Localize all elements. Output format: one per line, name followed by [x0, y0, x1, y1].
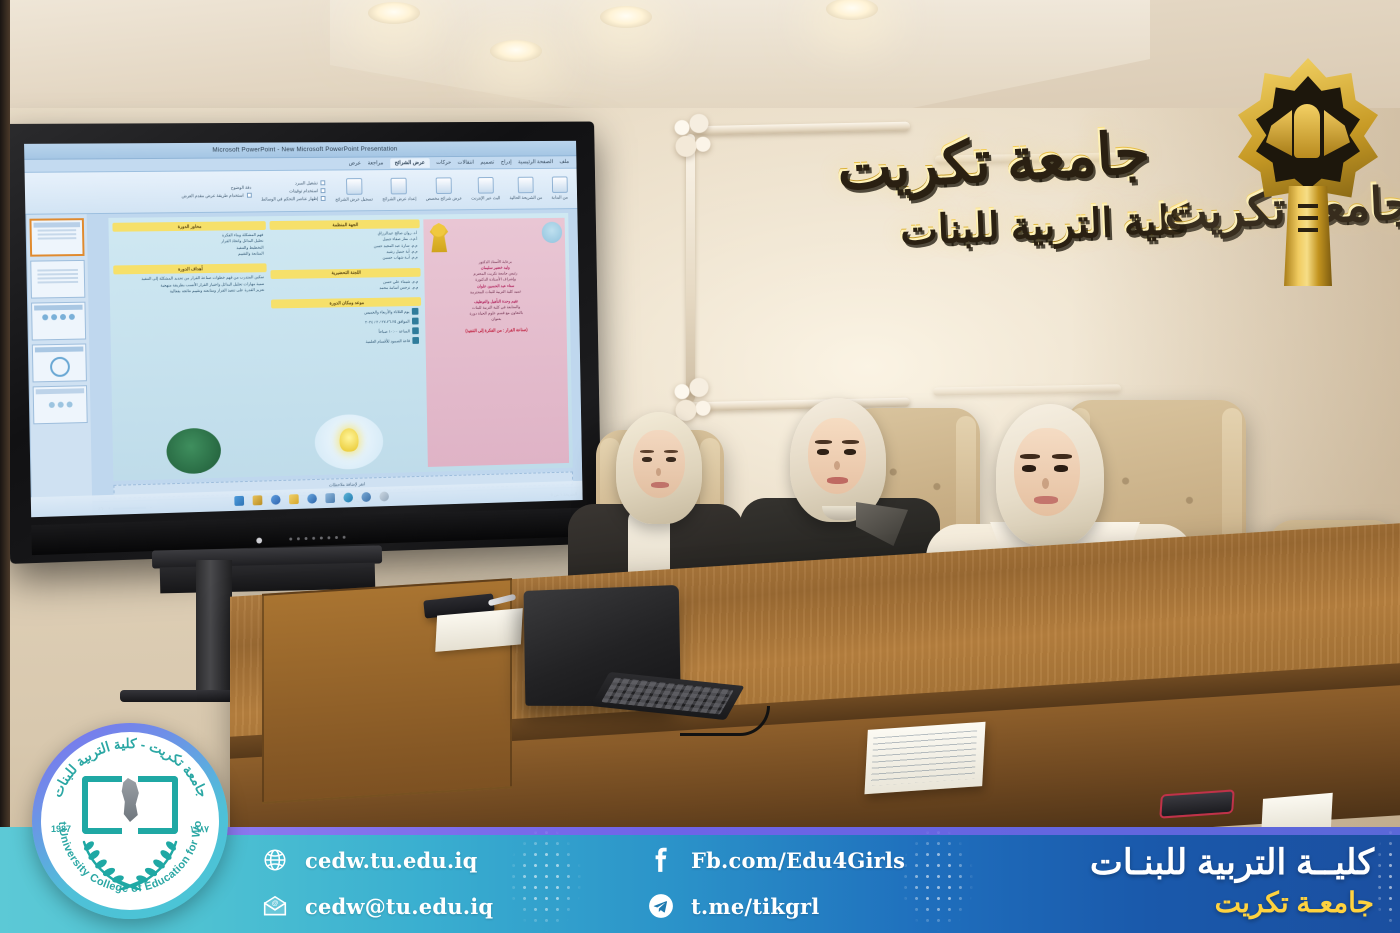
slide-lightbulb-graphic [315, 414, 384, 470]
powerpoint-icon[interactable] [307, 494, 317, 504]
date-row: الموافق ٢٥-٢٦-٢٧ / ٢ / ٢٠٢٤ [274, 318, 419, 327]
person-right-nose [1042, 478, 1049, 489]
slide-thumbnail[interactable] [32, 343, 87, 382]
footer-arabic-titles: كليــة التربية للبنـات جامعـة تكريت [1090, 841, 1374, 921]
checkbox-play-narrations[interactable]: تشغيل السرد [261, 180, 326, 186]
contact-telegram[interactable]: t.me/tikgrl [648, 893, 905, 919]
person-middle-brow [815, 440, 832, 444]
person-left-eye [642, 457, 652, 462]
dot-pattern-decor [508, 827, 582, 933]
slide-column-organizers: الجهة المنظمة أ.د. روان صالح عبدالرزاق أ… [270, 219, 425, 471]
person-middle-lips [827, 477, 848, 484]
ribbon-monitor-group[interactable]: دقة الوضوح استخدام طريقة عرض مقدم العرض [181, 184, 251, 198]
date-row: الساعة ١٠:٠٠ صباحاً [275, 328, 420, 338]
plaster-ornament [668, 112, 718, 164]
location-icon [413, 337, 420, 344]
paper-document[interactable] [864, 722, 985, 795]
globe-icon [262, 847, 288, 873]
ribbon[interactable]: من البداية من الشريحة الحالية البث عبر ا… [25, 169, 578, 215]
start-icon[interactable] [234, 496, 244, 506]
slide-thumbnail[interactable] [33, 385, 88, 424]
slide-canvas-pane[interactable]: برعاية الأستاذ الدكتور وليد خضير سليمان … [87, 209, 583, 515]
interactive-display[interactable]: Microsoft PowerPoint - New Microsoft Pow… [6, 124, 626, 564]
checkbox-show-media-controls[interactable]: إظهار عناصر التحكم في الوسائط [261, 196, 326, 202]
mail-icon[interactable] [361, 492, 371, 502]
edge-icon[interactable] [343, 493, 353, 503]
slide-list-organizers: أ.د. روان صالح عبدالرزاق أ.م.د. منار صفا… [270, 228, 421, 265]
ribbon-button-record[interactable]: تسجيل عرض الشرائح [335, 178, 373, 203]
label-resolution: دقة الوضوح [181, 184, 251, 191]
college-logo-badge: جامعة تكريت - كلية التربية للبنات Tikrit… [32, 723, 228, 919]
slide-photo-graphic [166, 428, 221, 475]
dot-pattern-decor [900, 827, 974, 933]
person-right-eye [1022, 465, 1036, 472]
slide-datetime-block: يوم الثلاثاء والأربعاء والخميس الموافق ٢… [271, 306, 422, 349]
tab-view[interactable]: عرض [349, 161, 361, 167]
display-stand-column [196, 560, 232, 698]
contact-website[interactable]: cedw.tu.edu.iq [262, 847, 493, 873]
tab-home[interactable]: الصفحة الرئيسية [518, 159, 553, 165]
person-left-lips [651, 482, 669, 488]
dot-pattern-decor [1374, 827, 1400, 933]
list-item: م.م. آيـة شهاب حسين [273, 255, 418, 263]
ribbon-button-custom-show[interactable]: عرض شرائح مخصص [425, 177, 462, 202]
tab-file[interactable]: ملف [559, 159, 569, 165]
person-right-eye [1054, 465, 1068, 472]
from-start-icon[interactable] [551, 176, 567, 192]
footer-college-name: كليــة التربية للبنـات [1090, 841, 1374, 885]
slide-avatar-circle [542, 222, 563, 243]
tab-animations[interactable]: حركات [436, 160, 451, 166]
footer-university-name: جامعـة تكريت [1090, 885, 1374, 921]
person-left-eye [666, 457, 676, 462]
display-screen[interactable]: Microsoft PowerPoint - New Microsoft Pow… [24, 141, 583, 517]
slide-list-committee: م.م. شيماء علي حسن م.م. نرجس أسامة محمد [271, 276, 421, 295]
slide-course-title: (صناعة القرار : من الفكرة إلى التنفيذ) [430, 327, 562, 336]
from-current-slide-icon[interactable] [518, 177, 534, 194]
envelope-icon: @ [262, 893, 288, 919]
checkbox-presenter-view[interactable]: استخدام طريقة عرض مقدم العرض [182, 192, 252, 199]
person-left-brow [640, 450, 654, 453]
contact-group-web: cedw.tu.edu.iq @ cedw@tu.edu.iq [262, 847, 493, 919]
list-item: م.م. نرجس أسامة محمد [274, 285, 419, 293]
frame-left-edge [0, 0, 10, 868]
website-url[interactable]: cedw.tu.edu.iq [305, 848, 477, 873]
person-middle-eye [817, 449, 829, 455]
ceiling-downlight [490, 40, 542, 62]
slide-thumbnail[interactable] [29, 218, 84, 257]
settings-icon[interactable] [379, 491, 389, 501]
folder-icon[interactable] [289, 494, 299, 504]
person-left-nose [656, 468, 661, 476]
ceiling-downlight [600, 6, 652, 28]
contact-email[interactable]: @ cedw@tu.edu.iq [262, 893, 493, 919]
tab-slideshow[interactable]: عرض الشرائح [390, 158, 430, 168]
date-row: يوم الثلاثاء والأربعاء والخميس [274, 308, 419, 317]
ribbon-button-broadcast[interactable]: البث عبر الإنترنت [471, 177, 501, 201]
list-item: تعزيز القدرة على تنفيذ القرار ومتابعته و… [117, 287, 265, 296]
ribbon-button-from-current[interactable]: من الشريحة الحالية [509, 177, 542, 201]
powerpoint-window[interactable]: Microsoft PowerPoint - New Microsoft Pow… [24, 141, 583, 517]
setup-slideshow-icon[interactable] [391, 178, 407, 195]
paper-sheet[interactable] [435, 608, 523, 652]
record-slideshow-icon[interactable] [346, 178, 362, 195]
list-item: المتابعة والتقييم [116, 251, 264, 259]
svg-text:@: @ [272, 900, 279, 907]
tab-transitions[interactable]: انتقالات [458, 160, 474, 166]
university-crest-icon [1238, 58, 1378, 288]
person-right-brow [1020, 454, 1040, 459]
footer-accent-strip [178, 827, 1400, 835]
slide-announcement-text: برعاية الأستاذ الدكتور وليد خضير سليمان … [427, 255, 564, 338]
tab-insert[interactable]: إدراج [501, 160, 512, 166]
facebook-handle[interactable]: Fb.com/Edu4Girls [691, 848, 905, 873]
slide-content[interactable]: برعاية الأستاذ الدكتور وليد خضير سليمان … [108, 213, 572, 481]
slide-thumbnail[interactable] [30, 260, 85, 299]
custom-slideshow-icon[interactable] [436, 177, 452, 194]
tab-design[interactable]: تصميم [480, 160, 494, 166]
slide-thumbnail-rail[interactable] [25, 214, 92, 517]
slide-person-graphic [427, 223, 452, 252]
checkbox-use-timings[interactable]: استخدام توقيتات [261, 188, 326, 194]
telegram-handle[interactable]: t.me/tikgrl [691, 894, 819, 919]
contact-group-social: Fb.com/Edu4Girls t.me/tikgrl [648, 847, 905, 919]
slide-column-announcement: برعاية الأستاذ الدكتور وليد خضير سليمان … [424, 218, 569, 467]
tab-review[interactable]: مراجعة [368, 160, 384, 166]
person-right-brow [1052, 454, 1072, 459]
broadcast-icon[interactable] [478, 177, 494, 194]
ceiling-downlight [368, 2, 420, 24]
person-middle-eye [844, 449, 856, 455]
slide-list-topics: فهم المشكلة وبناء الفكرة تحليل البدائل و… [113, 230, 267, 261]
calendar-icon [412, 318, 419, 325]
person-right-lips [1034, 496, 1058, 504]
slide-thumbnail[interactable] [31, 302, 86, 341]
person-middle-nose [834, 461, 840, 470]
file-explorer-icon[interactable] [253, 495, 263, 505]
ribbon-button-setup-show[interactable]: إعداد عرض الشرائح [382, 178, 417, 203]
person-middle-brow [842, 440, 859, 444]
person-left-brow [664, 450, 678, 453]
slide-list-objectives: تمكين المتدرب من فهم خطوات صناعة القرار … [113, 273, 267, 298]
screenshot-root: جامعة تكريت كلية التربية للبنات جامعة تك… [0, 0, 1400, 933]
email-address[interactable]: cedw@tu.edu.iq [305, 894, 493, 919]
slide-column-topics: محاور الدورة فهم المشكلة وبناء الفكرة تح… [112, 221, 270, 476]
clock-icon [413, 328, 420, 335]
calendar-icon [412, 308, 419, 315]
facebook-icon [648, 847, 674, 873]
app-icon[interactable] [325, 493, 335, 503]
contact-facebook[interactable]: Fb.com/Edu4Girls [648, 847, 905, 873]
date-row: قاعة الصمود للأقسام العلمية [275, 337, 420, 347]
browser-icon[interactable] [271, 495, 281, 505]
laurel-wreath-icon [60, 828, 200, 890]
telegram-icon [648, 893, 674, 919]
ribbon-checkbox-group[interactable]: تشغيل السرد استخدام توقيتات إظهار عناصر … [261, 180, 326, 202]
open-book-icon [82, 776, 178, 834]
ribbon-button-from-start[interactable]: من البداية [551, 176, 568, 200]
